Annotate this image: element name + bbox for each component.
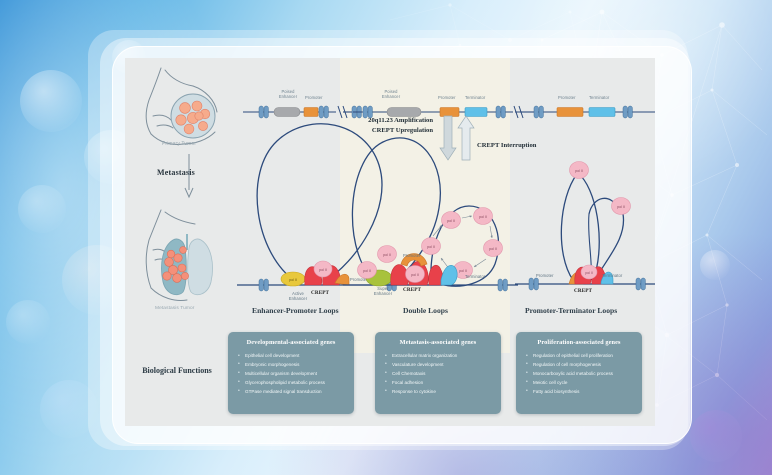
gene-item: Multicellular organism development [236, 370, 346, 379]
promoter-label-loop-right: Promoter [536, 274, 554, 279]
svg-text:pol II: pol II [447, 219, 455, 223]
svg-text:pol II: pol II [459, 269, 467, 273]
promoter-label-top-left: Promoter [305, 96, 323, 101]
double-loops-graphic: pol II pol II pol II pol II pol II p [343, 98, 523, 293]
gene-box-title: Developmental-associated genes [236, 339, 346, 346]
svg-text:pol II: pol II [575, 169, 583, 173]
gene-list: Extracellular matrix organization Vascul… [383, 352, 493, 397]
gene-box-proliferation: Proliferation-associated genes Regulatio… [516, 332, 642, 414]
promoter-label-top-right: Promoter [558, 96, 576, 101]
crept-label-middle: CREPT [403, 288, 421, 294]
gene-item: Epithelial cell development [236, 352, 346, 361]
gene-box-title: Metastasis-associated genes [383, 339, 493, 346]
svg-text:pol II: pol II [479, 215, 487, 219]
gene-box-title: Proliferation-associated genes [524, 339, 634, 346]
svg-text:pol II: pol II [411, 273, 419, 277]
metastasis-arrow [181, 154, 201, 200]
gene-item: Meiotic cell cycle [524, 379, 634, 388]
terminator-label-loop-right: Terminator [602, 274, 622, 279]
gene-item: Vasculature development [383, 361, 493, 370]
super-enhancer-label: Super Enhancer [367, 287, 399, 296]
svg-text:pol II: pol II [489, 247, 497, 251]
gene-item: Regulation of epithelial cell proliferat… [524, 352, 634, 361]
biological-functions-label: Biological Functions [131, 366, 223, 375]
promoter-label-loop-middle: Promoter [403, 254, 421, 259]
double-loops-title: Double Loops [403, 306, 448, 315]
gene-item: Embryonic morphogenesis [236, 361, 346, 370]
metastasis-tumor-label: Metastasis Tumor [155, 306, 194, 312]
gene-item: Monocarboxylic acid metabolic process [524, 370, 634, 379]
primary-tumor-illustration [131, 64, 241, 164]
svg-text:pol II: pol II [617, 205, 625, 209]
gene-item: Extracellular matrix organization [383, 352, 493, 361]
gene-item: GTPase mediated signal transduction [236, 388, 346, 397]
gene-list: Epithelial cell development Embryonic mo… [236, 352, 346, 397]
gene-box-developmental: Developmental-associated genes Epithelia… [228, 332, 354, 414]
gene-item: Regulation of cell morphogenesis [524, 361, 634, 370]
terminator-label-top-right: Terminator [589, 96, 609, 101]
gene-box-metastasis: Metastasis-associated genes Extracellula… [375, 332, 501, 414]
gene-item: Response to cytokine [383, 388, 493, 397]
svg-text:pol II: pol II [383, 253, 391, 257]
enhancer-promoter-loops-title: Enhancer-Promoter Loops [252, 306, 339, 315]
svg-text:pol II: pol II [319, 268, 327, 272]
active-enhancer-label: Active Enhancer [283, 292, 313, 301]
poised-enhancer-label-left: Poised Enhancer [273, 90, 303, 99]
terminator-label-loop-middle: Terminator [465, 275, 485, 280]
gene-item: Focal adhesion [383, 379, 493, 388]
crept-label-left: CREPT [311, 291, 329, 297]
gene-item: Cell Chemotaxis [383, 370, 493, 379]
primary-tumor-label: Primary Tumor [162, 142, 196, 148]
crept-label-right: CREPT [574, 289, 592, 295]
metastasis-tumor-illustration [129, 206, 244, 316]
gene-item: Fatty acid biosynthesis [524, 388, 634, 397]
gene-item: Glycerophospholipid metabolic process [236, 379, 346, 388]
svg-text:pol II: pol II [289, 278, 297, 282]
dna-strand-top-right [515, 82, 655, 126]
svg-text:pol II: pol II [427, 245, 435, 249]
promoter-terminator-loops-title: Promoter-Terminator Loops [525, 306, 617, 315]
gene-list: Regulation of epithelial cell proliferat… [524, 352, 634, 397]
svg-text:pol II: pol II [585, 271, 592, 275]
svg-text:pol II: pol II [363, 269, 371, 273]
